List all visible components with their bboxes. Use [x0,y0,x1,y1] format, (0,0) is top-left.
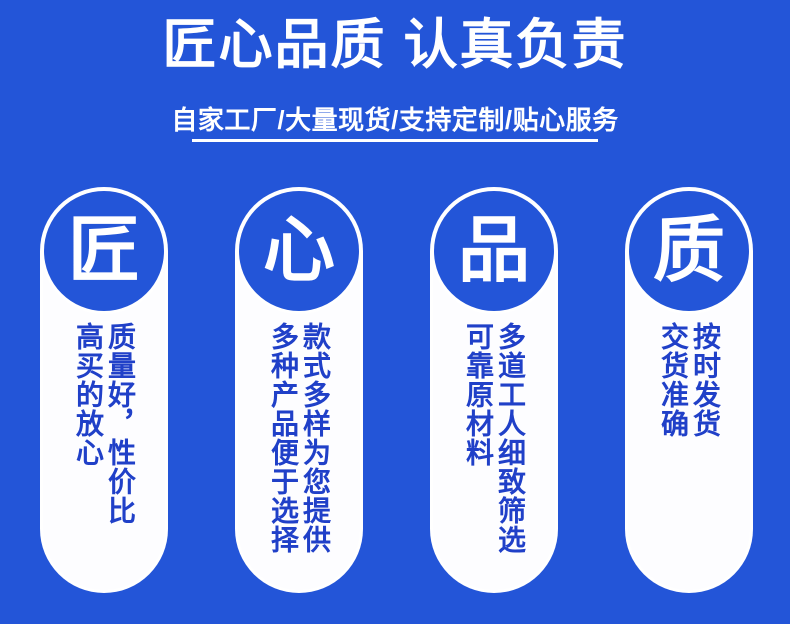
card-vertical-text-3: 多道工人细致筛选 可靠原材料 [433,322,555,584]
feature-card-1[interactable]: 匠 质量好，性价比 高买的放心 [43,190,165,590]
feature-card-3[interactable]: 品 多道工人细致筛选 可靠原材料 [433,190,555,590]
glyph-character-3: 品 [434,191,554,311]
card-text-column-left-2: 多种产品便于选择 [269,322,297,554]
card-text-column-right-1: 质量好，性价比 [106,322,134,525]
glyph-badge-1: 匠 [44,191,164,311]
card-vertical-text-2: 款式多样为您提供 多种产品便于选择 [238,322,360,584]
feature-card-list: 匠 质量好，性价比 高买的放心 心 款式多样为您提供 多种产品便于选择 品 多道… [0,0,790,624]
card-vertical-text-4: 按时发货 交货准确 [628,322,750,584]
card-text-column-left-3: 可靠原材料 [464,322,492,467]
card-text-column-right-4: 按时发货 [691,322,719,438]
card-text-column-right-2: 款式多样为您提供 [301,322,329,554]
feature-card-4[interactable]: 质 按时发货 交货准确 [628,190,750,590]
feature-card-2[interactable]: 心 款式多样为您提供 多种产品便于选择 [238,190,360,590]
card-text-column-left-4: 交货准确 [659,322,687,438]
glyph-badge-4: 质 [629,191,749,311]
glyph-character-1: 匠 [44,191,164,311]
glyph-badge-2: 心 [239,191,359,311]
card-vertical-text-1: 质量好，性价比 高买的放心 [43,322,165,584]
card-text-column-right-3: 多道工人细致筛选 [496,322,524,554]
glyph-character-2: 心 [239,191,359,311]
glyph-badge-3: 品 [434,191,554,311]
card-text-column-left-1: 高买的放心 [74,322,102,467]
glyph-character-4: 质 [629,191,749,311]
